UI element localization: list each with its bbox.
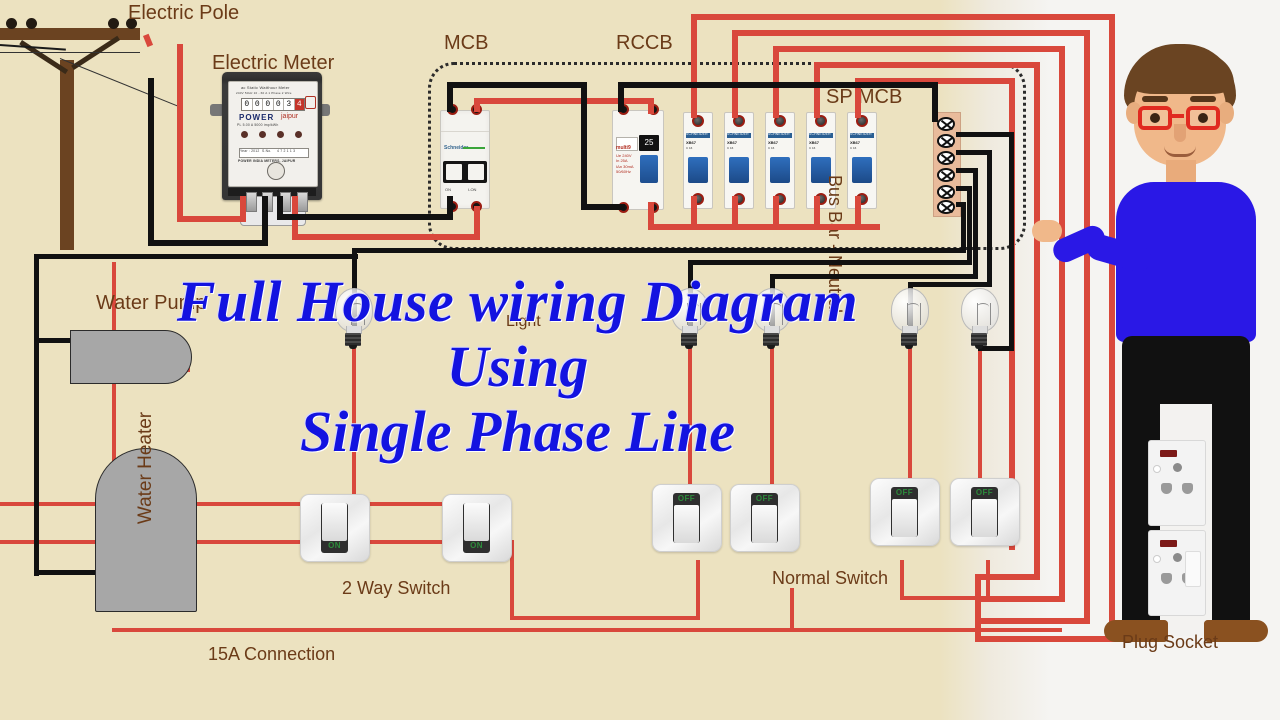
normal-switch-1[interactable]: OFF [652, 484, 722, 552]
wire-left-neutral-top-run [34, 254, 358, 259]
wire-normal-switch-4-out [986, 560, 990, 600]
wire-spmcb-4-feed-riser [814, 62, 820, 118]
wire-outer-loop-4-right [1034, 62, 1040, 574]
wire-normal-switch-3-out [900, 560, 904, 600]
two-way-switch-right[interactable]: ON [442, 494, 512, 562]
meter-year-label: Year : 2012 [240, 149, 259, 153]
wire-meter-live-in [240, 196, 246, 222]
mcb-pole-label-1: ON [445, 187, 451, 192]
wire-busbar-out-5-drop [961, 202, 966, 252]
meter-digit: 4 [295, 99, 305, 110]
wire-busbar-out-4-drop [967, 186, 972, 264]
two-way-switch-left[interactable]: ON [300, 494, 370, 562]
wire-meter-to-mcb-neutral [277, 214, 449, 220]
wire-spmcb-4-out [814, 196, 820, 230]
wire-left-neutral-riser [34, 254, 39, 576]
sp-mcb-brand: SCHNEIDER [809, 132, 831, 136]
meter-footer-text: POWER INDIA METERS, JAIPUR [238, 159, 295, 163]
sp-mcb-model: XB67 [850, 140, 860, 145]
mcb-toggle-lever[interactable] [443, 161, 487, 183]
wire-loop2-bottom [975, 618, 1090, 624]
sp-mcb-brand: SCHNEIDER [686, 132, 708, 136]
meter-serial-prefix: S.No. [262, 149, 271, 153]
wire-outer-loop-2-right [1084, 30, 1090, 618]
wire-mcb-to-rccb-top [474, 98, 654, 104]
sp-mcb-1[interactable]: SCHNEIDER XB67 C 16 [683, 112, 713, 209]
switch-state-label: ON [464, 541, 489, 550]
sp-mcb-rating: C 16 [809, 147, 815, 151]
character-nose [1174, 124, 1186, 142]
rccb-rating-window: 25 [639, 135, 659, 151]
sp-mcb-lever[interactable] [729, 157, 749, 183]
water-pump-label: Water Pump [96, 292, 206, 315]
electric-pole-label: Electric Pole [128, 2, 239, 25]
wire-bulb-1-live-drop [352, 348, 356, 498]
pole-insulator-2 [26, 18, 37, 29]
wire-outer-loop-3-right [1059, 46, 1065, 596]
wire-bulb4-neutral-run [908, 282, 992, 287]
mcb-device[interactable]: Schneider ON I-ON [440, 110, 490, 209]
wire-rccb-to-busbar-neutral [618, 82, 938, 88]
sp-mcb-brand: SCHNEIDER [768, 132, 790, 136]
meter-terminal-screw [297, 192, 308, 212]
switch-state-label: ON [322, 541, 347, 550]
socket-indicator [1160, 450, 1177, 457]
wire-mcb-live-in [474, 206, 480, 240]
sp-mcb-2[interactable]: SCHNEIDER XB67 C 16 [724, 112, 754, 209]
wire-two-way-strap-top [366, 502, 442, 506]
character-eyebrow-left [1142, 96, 1168, 102]
water-pump-body[interactable] [70, 330, 192, 384]
mcb-lever-pole-1 [446, 164, 462, 180]
wire-neutral-to-meter [148, 240, 264, 246]
wire-spmcb-1-out [691, 196, 697, 230]
normal-switch-2[interactable]: OFF [730, 484, 800, 552]
rccb-label: RCCB [616, 32, 673, 55]
meter-indicator-row [239, 130, 307, 139]
wire-loop1-bottom [975, 636, 1115, 642]
pole-insulator-1 [6, 18, 17, 29]
bus-bar-terminal [937, 151, 955, 165]
meter-housing: ac Static Watthour Meter 240V 50Hz 10 - … [222, 72, 322, 200]
switch-state-label: OFF [752, 494, 777, 503]
sp-mcb-rating: C 16 [686, 147, 692, 151]
meter-indicator-dot [277, 131, 284, 138]
character-hand-left [1032, 220, 1062, 242]
wire-busbar-out-3-drop [973, 168, 978, 278]
mcb-pole-label-2: I-ON [468, 187, 476, 192]
wire-bulb-5-live-drop [978, 348, 982, 496]
switch-rocker[interactable] [892, 499, 917, 537]
glasses-bridge [1170, 114, 1184, 118]
wire-bulb2-neutral-run [688, 260, 972, 265]
socket-live-pin-hole [1161, 573, 1172, 584]
sp-mcb-3[interactable]: SCHNEIDER XB67 C 16 [765, 112, 795, 209]
light-bulb-2[interactable] [668, 288, 710, 350]
wire-outer-loop-3-top [773, 46, 1065, 52]
wire-pole-neutral-drop [148, 78, 154, 244]
wire-bulb-2-live-drop [688, 348, 692, 496]
meter-digit: 3 [284, 99, 295, 110]
wire-busbar-feed [932, 82, 938, 122]
sp-mcb-brand: SCHNEIDER [727, 132, 749, 136]
meter-digit: 0 [274, 99, 285, 110]
wire-busbar-out-1 [956, 132, 1014, 137]
meter-register-display: 0 0 0 0 3 4 [241, 98, 305, 111]
rccb-brand-label: multi9 [616, 145, 631, 151]
character-fringe [1128, 54, 1234, 94]
wire-outer-loop-4-top [814, 62, 1040, 68]
light-bulb-5[interactable] [958, 288, 1000, 350]
bulb-tip [905, 345, 913, 349]
mcb-seam [441, 131, 489, 132]
socket-earth-pin-hole [1173, 553, 1182, 562]
bulb-tip [685, 345, 693, 349]
socket-neutral-pin-hole [1182, 483, 1193, 494]
meter-digit: 0 [253, 99, 264, 110]
pole-insulator-3 [108, 18, 119, 29]
wire-heater-neutral [34, 570, 102, 575]
bulb-tip [975, 345, 983, 349]
wire-spmcb-5-out [855, 196, 861, 230]
wire-15a-connection-run [112, 628, 1062, 632]
meter-digit: 0 [242, 99, 253, 110]
wire-normal-switch-2-out [790, 588, 794, 628]
character-ear-right [1218, 102, 1234, 124]
overhead-line-2 [0, 52, 140, 53]
socket-live-pin-hole [1161, 483, 1172, 494]
pole-mast [60, 60, 74, 250]
wire-mcb-to-rccb-neutral-top [447, 82, 587, 88]
two-way-switch-label: 2 Way Switch [342, 578, 450, 599]
wiring-diagram-canvas: Electric Pole Electric Meter ac Static W… [0, 0, 1280, 720]
rccb-toggle-lever[interactable] [640, 155, 658, 183]
bulb-filament [687, 303, 701, 325]
meter-brand-sub-label: jaipur [281, 113, 298, 120]
switch-rocker[interactable] [972, 499, 997, 537]
switch-state-label: OFF [674, 494, 699, 503]
wire-outer-loop-2-top [732, 30, 1090, 36]
wire-spmcb-2-feed-riser [732, 30, 738, 118]
bulb-filament [977, 303, 991, 325]
switch-rocker[interactable] [464, 503, 489, 541]
wire-rccb-live-in [648, 98, 654, 114]
mcb-label: MCB [444, 32, 488, 55]
bus-bar-terminal [937, 200, 955, 214]
meter-logo-box [305, 96, 316, 109]
sp-mcb-rating: C 16 [768, 147, 774, 151]
sp-mcb-lever[interactable] [852, 157, 872, 183]
wire-bulb-4-live-drop [908, 348, 912, 496]
sp-mcb-model: XB67 [809, 140, 819, 145]
bus-bar-terminal [937, 168, 955, 182]
sp-mcb-model: XB67 [686, 140, 696, 145]
meter-seal [267, 162, 285, 180]
rccb-spec-text: Ue 240VIn 25AIΔn 30mA50/60Hz [616, 153, 634, 175]
wire-neutral-to-rccb-bottom [581, 204, 625, 210]
sp-mcb-rating: C 16 [727, 147, 733, 151]
light-bulb-3[interactable] [750, 288, 792, 350]
wire-bulb-3-live-drop [770, 348, 774, 496]
plug-socket-upper[interactable] [1148, 440, 1206, 526]
wire-neutral-cross-down [581, 82, 587, 210]
mcb-brand-accent [463, 147, 485, 149]
sp-mcb-label: SP MCB [826, 86, 902, 109]
meter-header-text: ac Static Watthour Meter [241, 85, 290, 90]
wire-outer-loop-1-top [691, 14, 1115, 20]
water-heater-body[interactable]: Water Heater [95, 448, 197, 612]
character-eyebrow-right [1190, 96, 1216, 102]
bulb-filament [907, 303, 921, 325]
wire-mcb-neutral-in [447, 196, 453, 220]
sp-mcb-lever[interactable] [688, 157, 708, 183]
socket-screw [1153, 465, 1161, 473]
wire-bulb1-neutral-run [352, 248, 966, 253]
sp-mcb-brand: SCHNEIDER [850, 132, 872, 136]
wire-spmcb-3-out [773, 196, 779, 230]
sp-mcb-model: XB67 [727, 140, 737, 145]
fifteen-amp-connection-label: 15A Connection [208, 644, 335, 665]
wire-spmcb-bottom-rail [648, 224, 880, 230]
socket-earth-pin-hole [1173, 463, 1182, 472]
wire-normal-switch-3-run [900, 596, 1040, 600]
wire-spmcb-2-out [732, 196, 738, 230]
socket-switch-button[interactable] [1185, 551, 1201, 587]
meter-subheader-text: 240V 50Hz 10 - 60 A 1 Phase 2 Wire [236, 91, 292, 95]
switch-state-label: OFF [892, 488, 917, 497]
sp-mcb-rating: C 16 [850, 147, 856, 151]
bus-bar-terminal [937, 134, 955, 148]
wire-drop-vertical [177, 44, 183, 222]
bus-bar-terminal [937, 117, 955, 131]
normal-switch-3[interactable]: OFF [870, 478, 940, 546]
wire-meter-neutral-in [262, 196, 268, 246]
water-heater-label: Water Heater [96, 387, 196, 549]
bus-bar-label: Bus Bar - Neutral [824, 175, 845, 313]
sp-mcb-model: XB67 [768, 140, 778, 145]
bus-bar-terminal [937, 185, 955, 199]
light-bulb-4[interactable] [888, 288, 930, 350]
plug-socket-label: Plug Socket [1122, 632, 1218, 653]
bulb-filament [769, 303, 783, 325]
socket-screw [1153, 555, 1161, 563]
wire-loop4-bottom [975, 574, 1040, 580]
switch-state-label: OFF [972, 488, 997, 497]
sp-mcb-5[interactable]: SCHNEIDER XB67 C 16 [847, 112, 877, 209]
wire-two-way-strap-bottom [366, 540, 442, 544]
bulb-tip [349, 345, 357, 349]
meter-serial-value: 4 7 2 1 1 3 [277, 149, 295, 153]
switch-rocker[interactable] [322, 503, 347, 541]
meter-terminal-legend: PL 5.00 A 5000 imp/kWh [237, 123, 278, 127]
normal-switch-label: Normal Switch [772, 568, 888, 589]
light-label: Light [506, 313, 541, 331]
character-eye-left [1150, 113, 1160, 123]
wire-meter-to-mcb-run [292, 234, 480, 240]
character-eye-right [1198, 113, 1208, 123]
meter-indicator-dot [241, 131, 248, 138]
meter-indicator-dot [259, 131, 266, 138]
meter-brand-label: POWER [239, 113, 274, 122]
rccb-device[interactable]: multi9 Ue 240VIn 25AIΔn 30mA50/60Hz 25 [612, 110, 664, 210]
meter-terminal-screw [246, 192, 257, 212]
plug-socket-lower[interactable] [1148, 530, 1206, 616]
wire-spmcb-1-feed-riser [691, 14, 697, 118]
wire-switch-group-tie [696, 560, 700, 620]
bulb-filament [351, 303, 365, 325]
sp-mcb-lever[interactable] [770, 157, 790, 183]
switch-rocker[interactable] [674, 505, 699, 543]
meter-digit: 0 [263, 99, 274, 110]
meter-faceplate: ac Static Watthour Meter 240V 50Hz 10 - … [228, 81, 318, 187]
normal-switch-4[interactable]: OFF [950, 478, 1020, 546]
light-bulb-1[interactable] [332, 288, 374, 350]
meter-indicator-dot [295, 131, 302, 138]
wire-bulb3-neutral-run [770, 274, 978, 279]
bulb-tip [767, 345, 775, 349]
wire-two-way-to-light [510, 616, 700, 620]
wire-drop-to-meter-in [177, 216, 245, 222]
wire-busbar-out-2-drop [987, 150, 992, 286]
wire-busbar-out-1-drop [1009, 132, 1014, 350]
socket-indicator [1160, 540, 1177, 547]
mcb-lever-pole-2 [468, 164, 484, 180]
switch-rocker[interactable] [752, 505, 777, 543]
